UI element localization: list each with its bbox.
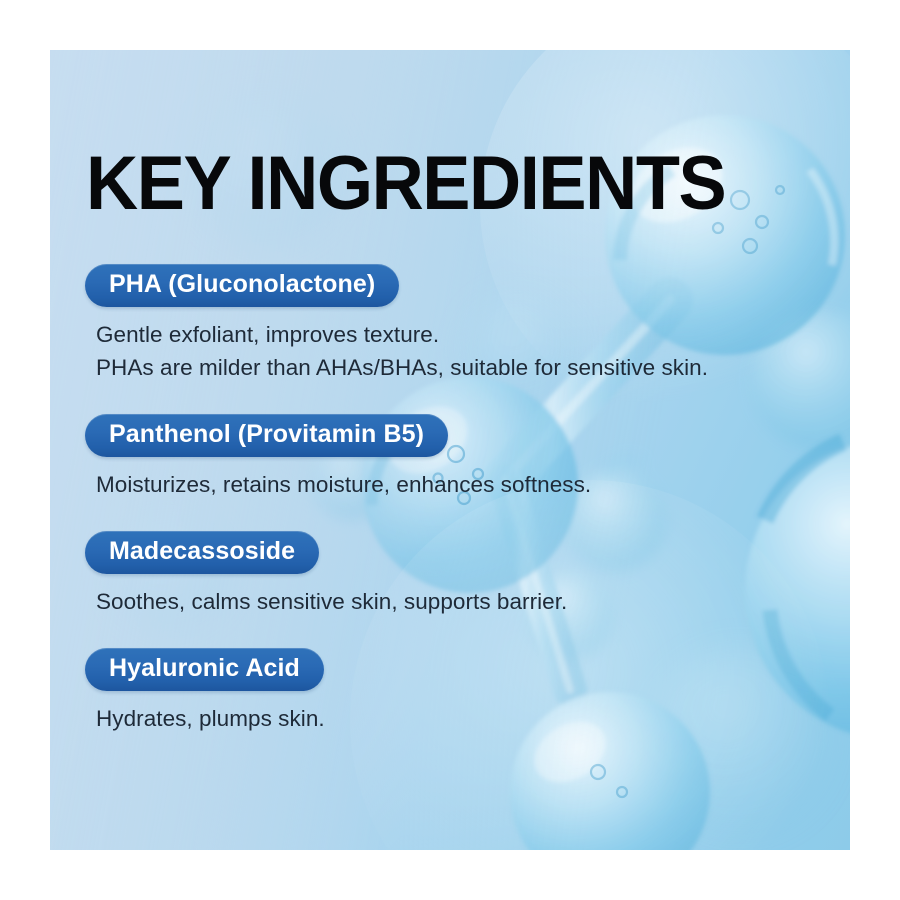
page-title: KEY INGREDIENTS	[86, 146, 725, 222]
list-item: Hyaluronic Acid Hydrates, plumps skin.	[50, 648, 850, 735]
ingredient-description-madecassoside: Soothes, calms sensitive skin, supports …	[96, 585, 850, 618]
ingredient-description-panthenol: Moisturizes, retains moisture, enhances …	[96, 468, 850, 501]
ingredient-description-hyaluronic-acid: Hydrates, plumps skin.	[96, 702, 850, 735]
ingredient-badge-pha[interactable]: PHA (Gluconolactone)	[85, 264, 399, 307]
ingredient-badge-hyaluronic-acid[interactable]: Hyaluronic Acid	[85, 648, 324, 691]
list-item: PHA (Gluconolactone) Gentle exfoliant, i…	[50, 264, 850, 384]
ingredient-description-pha: Gentle exfoliant, improves texture. PHAs…	[96, 318, 850, 384]
description-line: Hydrates, plumps skin.	[96, 702, 850, 735]
list-item: Panthenol (Provitamin B5) Moisturizes, r…	[50, 414, 850, 501]
description-line: Soothes, calms sensitive skin, supports …	[96, 585, 850, 618]
description-line: Gentle exfoliant, improves texture.	[96, 318, 850, 351]
list-item: Madecassoside Soothes, calms sensitive s…	[50, 531, 850, 618]
description-line: PHAs are milder than AHAs/BHAs, suitable…	[96, 351, 850, 384]
ingredient-badge-madecassoside[interactable]: Madecassoside	[85, 531, 319, 574]
poster-content: KEY INGREDIENTS PHA (Gluconolactone) Gen…	[50, 50, 850, 850]
ingredient-list: PHA (Gluconolactone) Gentle exfoliant, i…	[50, 264, 850, 735]
ingredient-badge-panthenol[interactable]: Panthenol (Provitamin B5)	[85, 414, 448, 457]
description-line: Moisturizes, retains moisture, enhances …	[96, 468, 850, 501]
key-ingredients-poster: KEY INGREDIENTS PHA (Gluconolactone) Gen…	[50, 50, 850, 850]
